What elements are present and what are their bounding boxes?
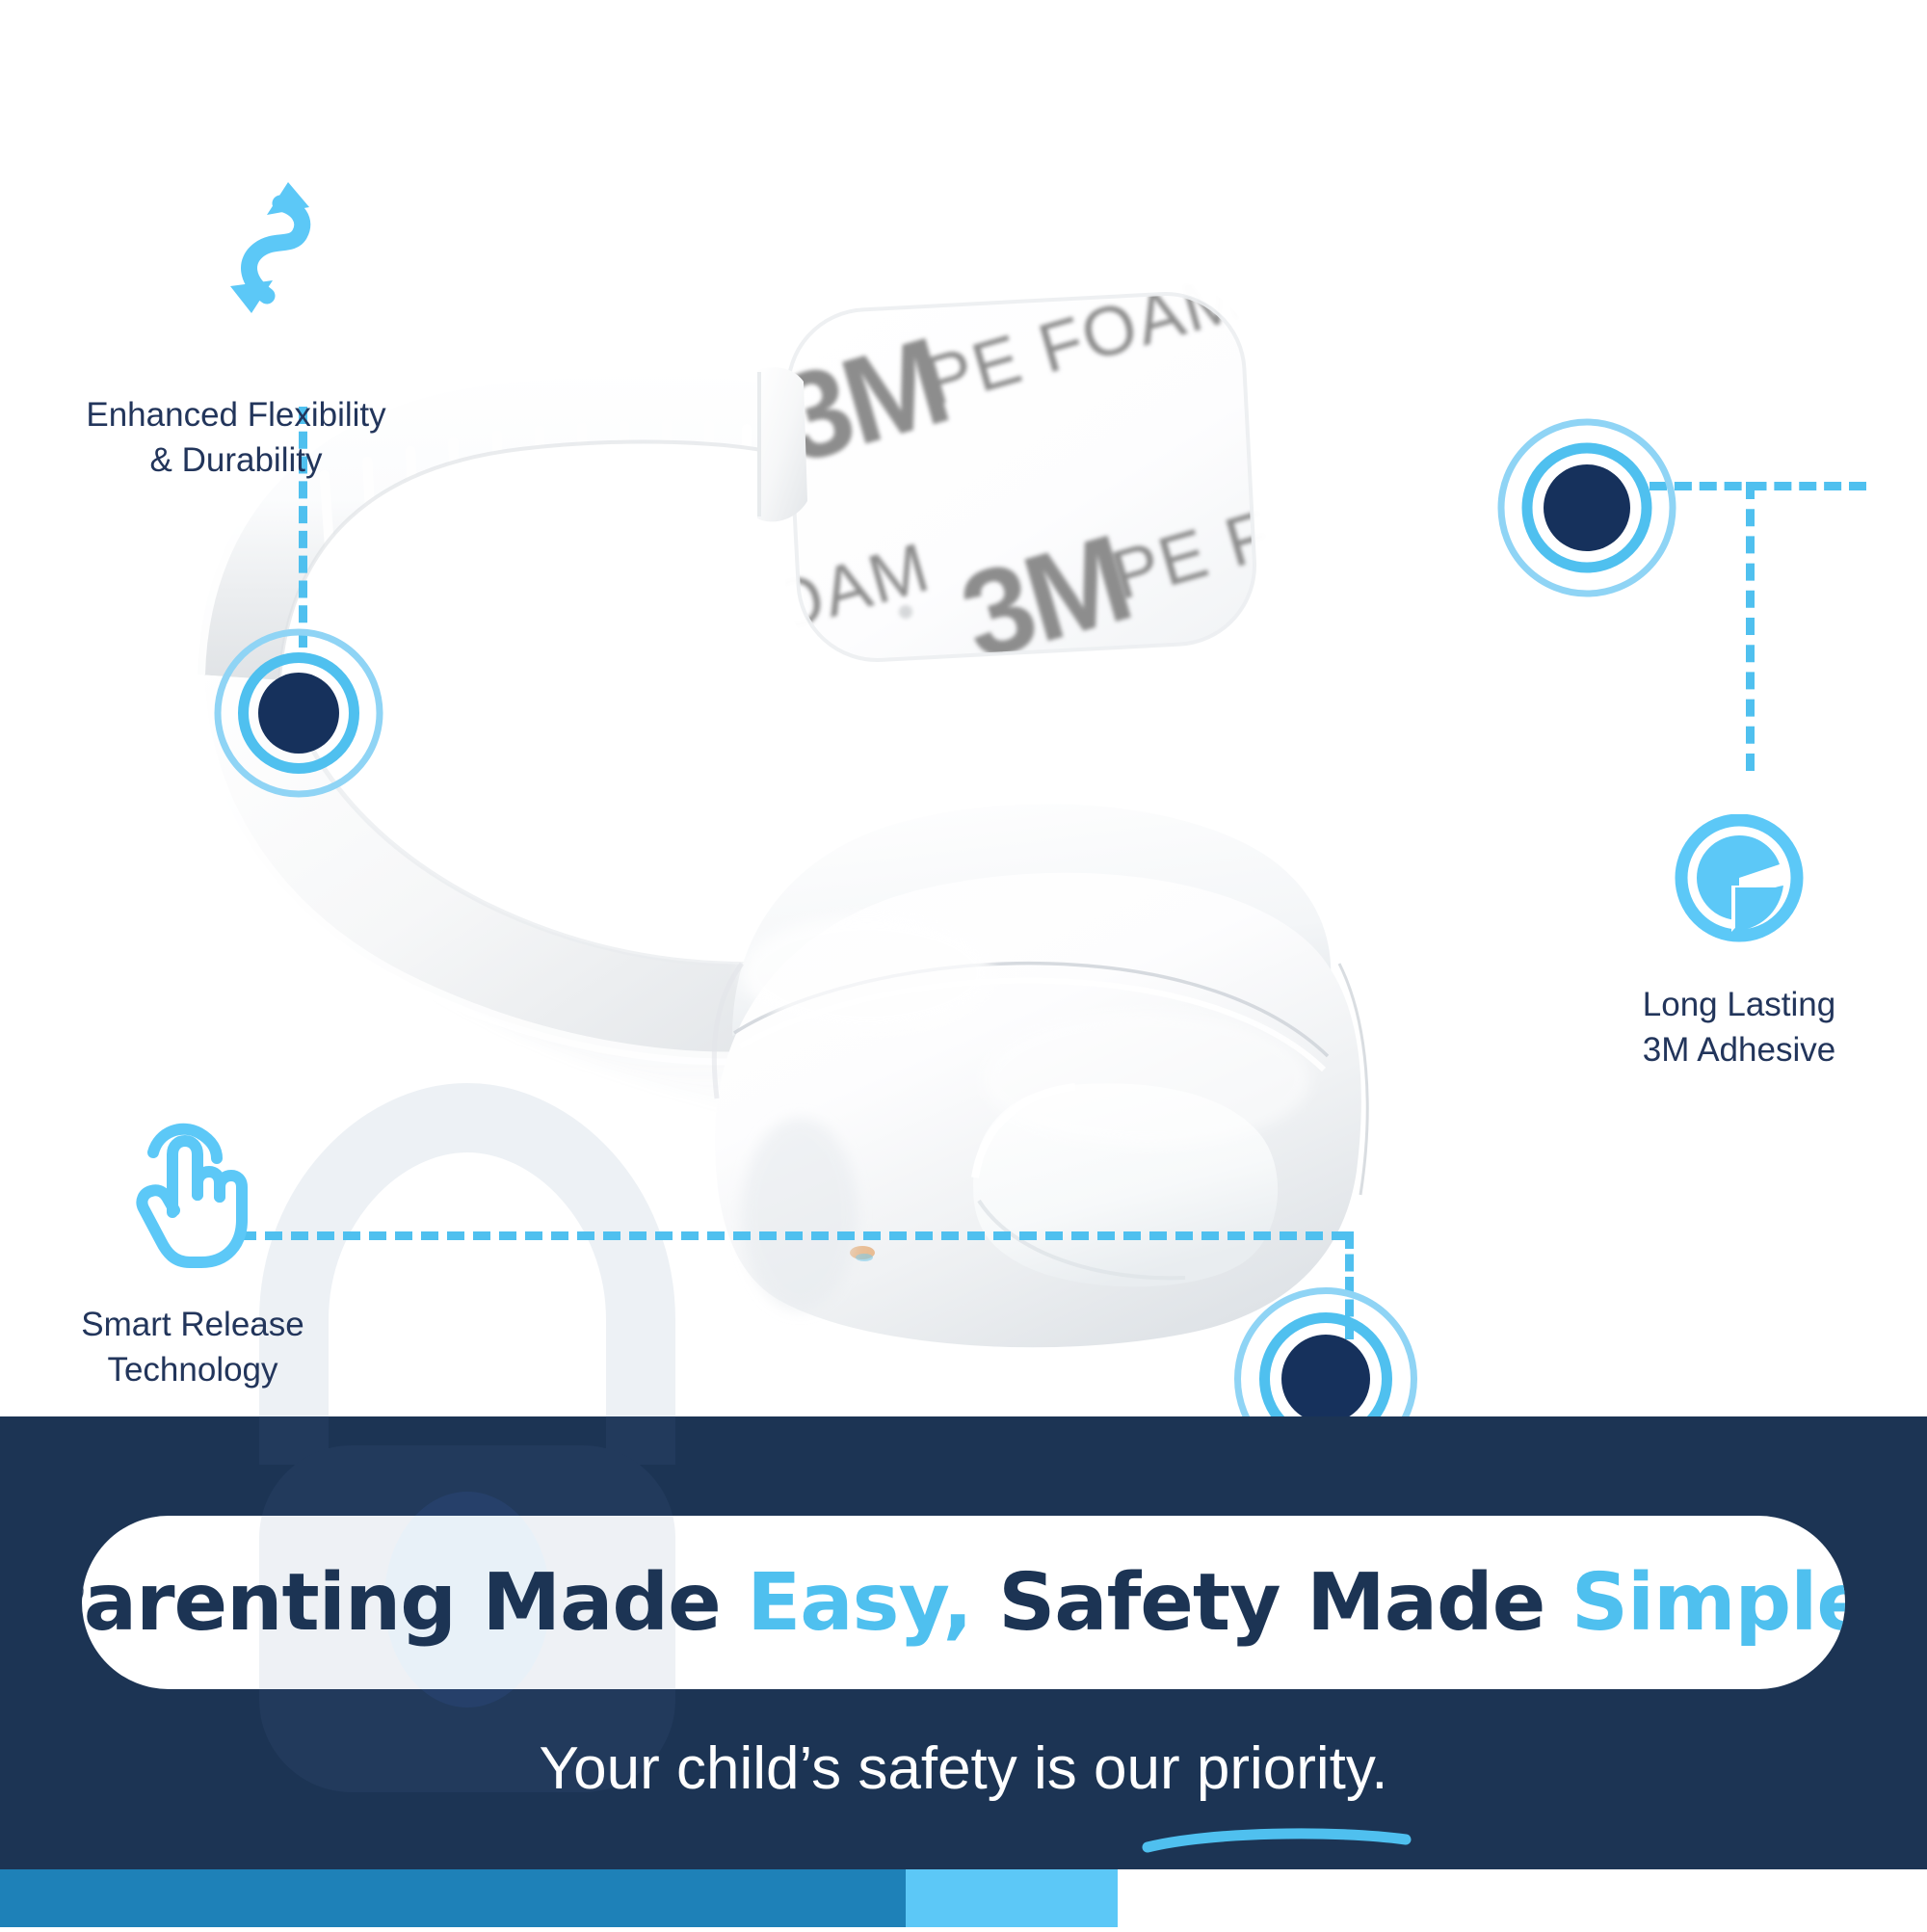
feature-label-adhesive: Long Lasting 3M Adhesive	[1551, 983, 1927, 1072]
bottom-color-strip	[0, 1869, 1927, 1927]
pad-print-layer: 3M PE FOAM OAM 3M PE FO OAM	[760, 226, 1343, 797]
underline-swoosh-icon	[1142, 1824, 1412, 1858]
strip-segment-white	[1118, 1869, 1927, 1927]
svg-text:3M: 3M	[765, 312, 961, 490]
headline-part-4: Simple.	[1571, 1557, 1845, 1649]
hotspot-core-dot	[1281, 1335, 1370, 1423]
svg-text:OAM: OAM	[760, 528, 938, 648]
tap-hand-icon	[130, 1120, 260, 1274]
hotspot-marker-adhesive[interactable]	[1491, 411, 1683, 604]
svg-text:PE FOAM: PE FOAM	[917, 256, 1252, 420]
svg-text:OAM: OAM	[967, 677, 1146, 797]
feature-label-flexibility: Enhanced Flexibility & Durability	[0, 393, 472, 483]
headline-pill: Parenting Made Easy, Safety Made Simple.	[82, 1516, 1845, 1689]
headline-part-1: Parenting Made	[82, 1557, 747, 1649]
headline-part-2: Easy,	[747, 1557, 971, 1649]
hotspot-marker-flexibility[interactable]	[207, 622, 390, 805]
strip-segment-blue	[0, 1869, 906, 1927]
infographic-canvas: 3M PE FOAM OAM 3M PE FO OAM	[0, 0, 1927, 1927]
page-headline: Parenting Made Easy, Safety Made Simple.	[82, 1557, 1845, 1649]
feature-label-smart-release: Smart Release Technology	[0, 1303, 385, 1392]
svg-text:PE FO: PE FO	[1104, 481, 1334, 615]
headline-part-3: Safety Made	[972, 1557, 1571, 1649]
flex-arrows-icon	[217, 178, 342, 318]
hotspot-core-dot	[258, 673, 339, 754]
connector-smart-release-horizontal	[239, 1231, 1349, 1240]
page-subline: Your child’s safety is our priority.	[0, 1734, 1927, 1803]
svg-text:3M: 3M	[947, 510, 1143, 687]
hotspot-core-dot	[1544, 464, 1630, 551]
peel-sticker-icon	[1672, 814, 1807, 944]
strip-segment-light-blue	[906, 1869, 1118, 1927]
connector-adhesive-vertical	[1746, 482, 1755, 771]
